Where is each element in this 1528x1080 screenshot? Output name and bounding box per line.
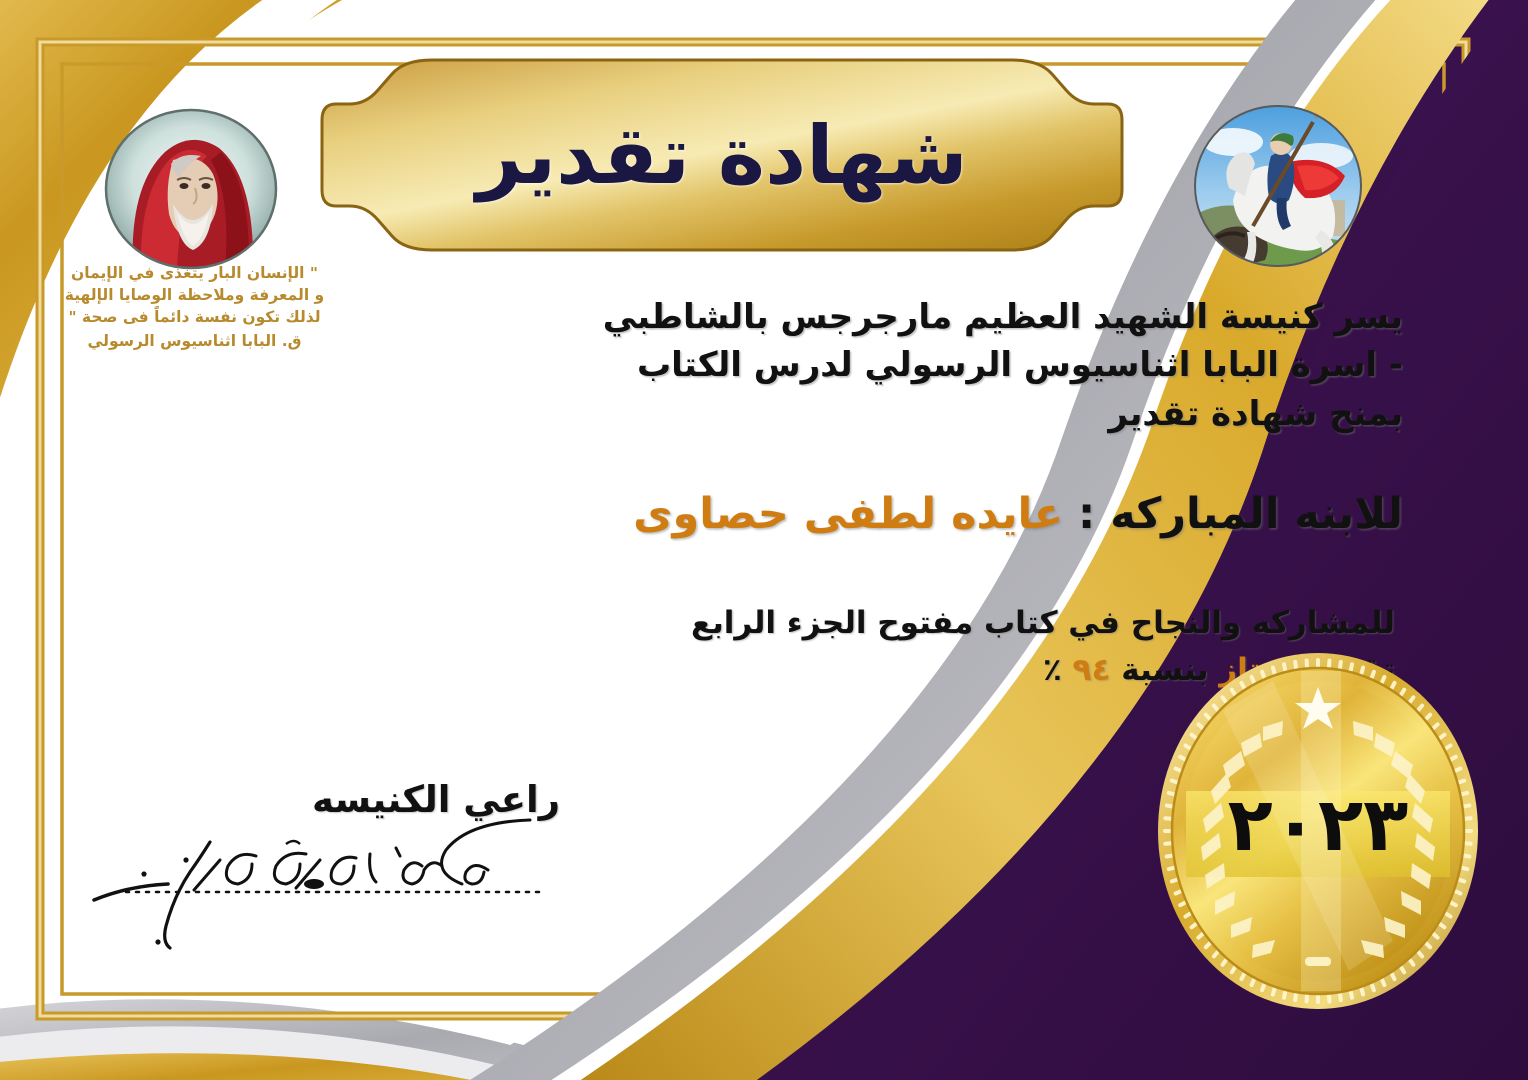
quote-line-3: لذلك تكون نفسة دائماً فى صحة " (62, 306, 327, 328)
certificate-title-text: شهادة تقدير (476, 109, 967, 202)
medal-year: ٢٠٢٣ (1153, 782, 1483, 868)
percent-value: ٩٤ (1073, 652, 1111, 688)
recipient-label: للابنه المباركه : (1078, 489, 1403, 539)
certificate-title: شهادة تقدير (322, 60, 1122, 250)
quote-block: " الإنسان البار يتغذى في الإيمان و المعر… (62, 262, 327, 352)
signature-area: راعي الكنيسه (70, 778, 590, 958)
body-line-1: يسر كنيسة الشهيد العظيم مارجرجس بالشاطبي (383, 293, 1403, 341)
quote-author: ق. البابا اثناسيوس الرسولي (62, 330, 327, 352)
body-text: يسر كنيسة الشهيد العظيم مارجرجس بالشاطبي… (383, 293, 1403, 438)
gold-medal-seal-icon: ٢٠٢٣ (1153, 641, 1483, 1021)
body-line-3: بمنح شهادة تقدير (383, 390, 1403, 438)
quote-line-1: " الإنسان البار يتغذى في الإيمان (62, 262, 327, 284)
recipient-name: عايده لطفى حصاوى (633, 489, 1063, 539)
achievement-line-1: للمشاركه والنجاح في كتاب مفتوح الجزء الر… (385, 600, 1395, 647)
saint-george-horseman-icon (1193, 104, 1363, 269)
handwritten-signature-icon (70, 814, 590, 954)
saint-portrait-icon (103, 108, 279, 270)
body-line-2: - اسرة البابا اثناسيوس الرسولي لدرس الكت… (383, 341, 1403, 389)
certificate-page: شهادة تقدير (0, 0, 1528, 1080)
quote-line-2: و المعرفة وملاحظة الوصايا الإلهية (62, 284, 327, 306)
percent-sign: ٪ (1043, 652, 1062, 688)
recipient-line: للابنه المباركه : عايده لطفى حصاوى (343, 489, 1403, 539)
